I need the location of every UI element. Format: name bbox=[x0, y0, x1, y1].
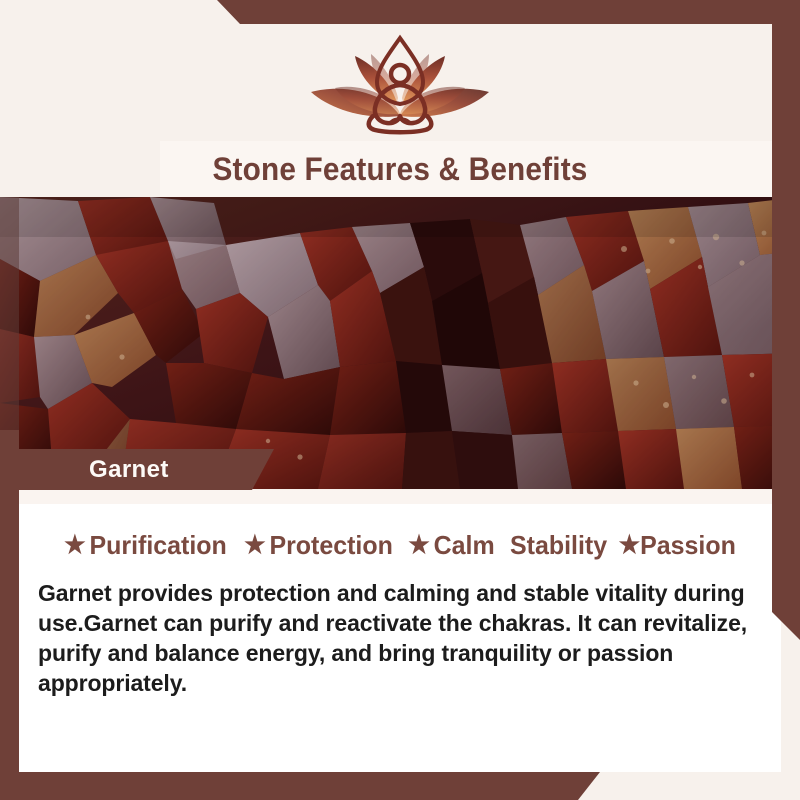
frame-left-bar bbox=[0, 430, 19, 800]
feature-label: Stability bbox=[510, 530, 607, 561]
poster-root: BUDDHA STONES Stone Features & Benefits bbox=[0, 0, 800, 800]
feature-item-passion: ★ Passion bbox=[619, 530, 736, 561]
frame-top-bar bbox=[0, 0, 800, 24]
star-icon: ★ bbox=[244, 533, 266, 558]
stone-name: Garnet bbox=[19, 449, 274, 490]
star-icon: ★ bbox=[64, 533, 86, 558]
star-icon: ★ bbox=[619, 533, 641, 558]
feature-label: Protection bbox=[269, 530, 392, 561]
stone-description-text: Garnet provides protection and calming a… bbox=[38, 578, 760, 698]
frame-right-bar bbox=[772, 0, 800, 640]
garnet-crystal-image bbox=[0, 197, 800, 489]
feature-label: Passion bbox=[640, 530, 736, 561]
feature-item-calm: ★ Calm bbox=[408, 530, 494, 561]
feature-item-protection: ★ Protection bbox=[244, 530, 393, 561]
garnet-photo bbox=[0, 197, 800, 489]
feature-list: ★ Purification ★ Protection ★ Calm Stabi… bbox=[34, 530, 766, 561]
feature-label: Calm bbox=[434, 530, 495, 561]
feature-item-stability: Stability bbox=[510, 530, 607, 561]
page-title: Stone Features & Benefits bbox=[28, 141, 772, 197]
lotus-meditation-figure-icon bbox=[295, 30, 505, 135]
star-icon: ★ bbox=[408, 533, 430, 558]
feature-item-purification: ★ Purification bbox=[64, 530, 227, 561]
feature-label: Purification bbox=[90, 530, 227, 561]
brand-logo: BUDDHA STONES bbox=[0, 30, 800, 157]
stone-description: Garnet provides protection and calming a… bbox=[38, 578, 760, 698]
frame-bottom-bar bbox=[0, 772, 800, 800]
content-card-top-edge bbox=[19, 490, 781, 504]
frame-left-upper-bar bbox=[0, 197, 19, 430]
